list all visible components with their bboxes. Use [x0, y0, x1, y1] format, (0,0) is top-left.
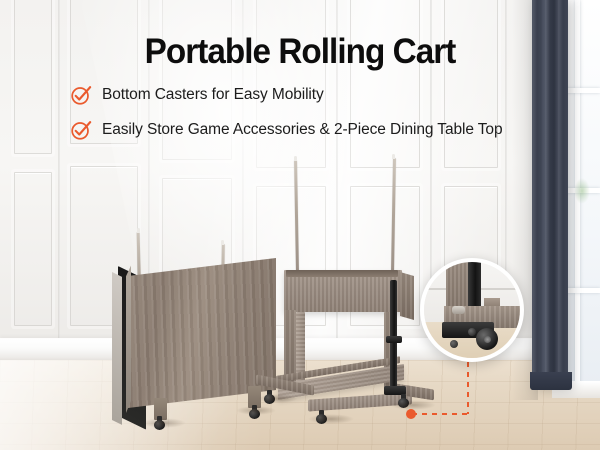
folded-table-top	[110, 258, 280, 426]
list-item: Bottom Casters for Easy Mobility	[70, 84, 570, 106]
post-bracket	[386, 336, 402, 343]
floor-contact-shadow	[308, 414, 354, 424]
wall-panel-moulding	[14, 0, 52, 154]
magnifier-lift-post	[468, 258, 481, 312]
floor-contact-shadow	[142, 418, 186, 428]
caster-detail-magnifier	[420, 258, 524, 362]
list-item-label: Easily Store Game Accessories & 2-Piece …	[102, 121, 502, 139]
magnifier-bolt	[450, 340, 458, 348]
floor-contact-shadow	[258, 394, 298, 403]
callout-anchor-dot	[406, 409, 416, 419]
table-top-hinge-edge	[126, 261, 131, 413]
list-item-label: Bottom Casters for Easy Mobility	[102, 86, 324, 104]
magnifier-adjust-knob	[452, 306, 465, 314]
check-circle-icon	[70, 119, 92, 141]
magnifier-caster-hub	[484, 336, 491, 343]
product-marketing-image: Portable Rolling Cart Bottom Casters for…	[0, 0, 600, 450]
storage-bin-side-panel	[400, 272, 414, 320]
cue-stick-tip	[137, 228, 140, 233]
callout-leader-horizontal	[412, 413, 470, 415]
cue-stick-tip	[221, 240, 224, 245]
curtain-hem	[530, 372, 572, 390]
wall-panel-moulding	[14, 172, 52, 326]
window-foliage	[574, 178, 590, 204]
feature-list: Bottom Casters for Easy Mobility Easily …	[70, 84, 570, 154]
magnifier-bolt	[468, 328, 476, 336]
table-top-back-edge	[112, 272, 122, 425]
check-circle-icon	[70, 84, 92, 106]
cue-stick-tip	[392, 154, 395, 159]
page-title: Portable Rolling Cart	[15, 32, 585, 72]
list-item: Easily Store Game Accessories & 2-Piece …	[70, 119, 570, 141]
floor-contact-shadow	[236, 406, 276, 415]
cue-stick-tip	[294, 156, 297, 161]
storage-bin-interior	[286, 270, 398, 277]
